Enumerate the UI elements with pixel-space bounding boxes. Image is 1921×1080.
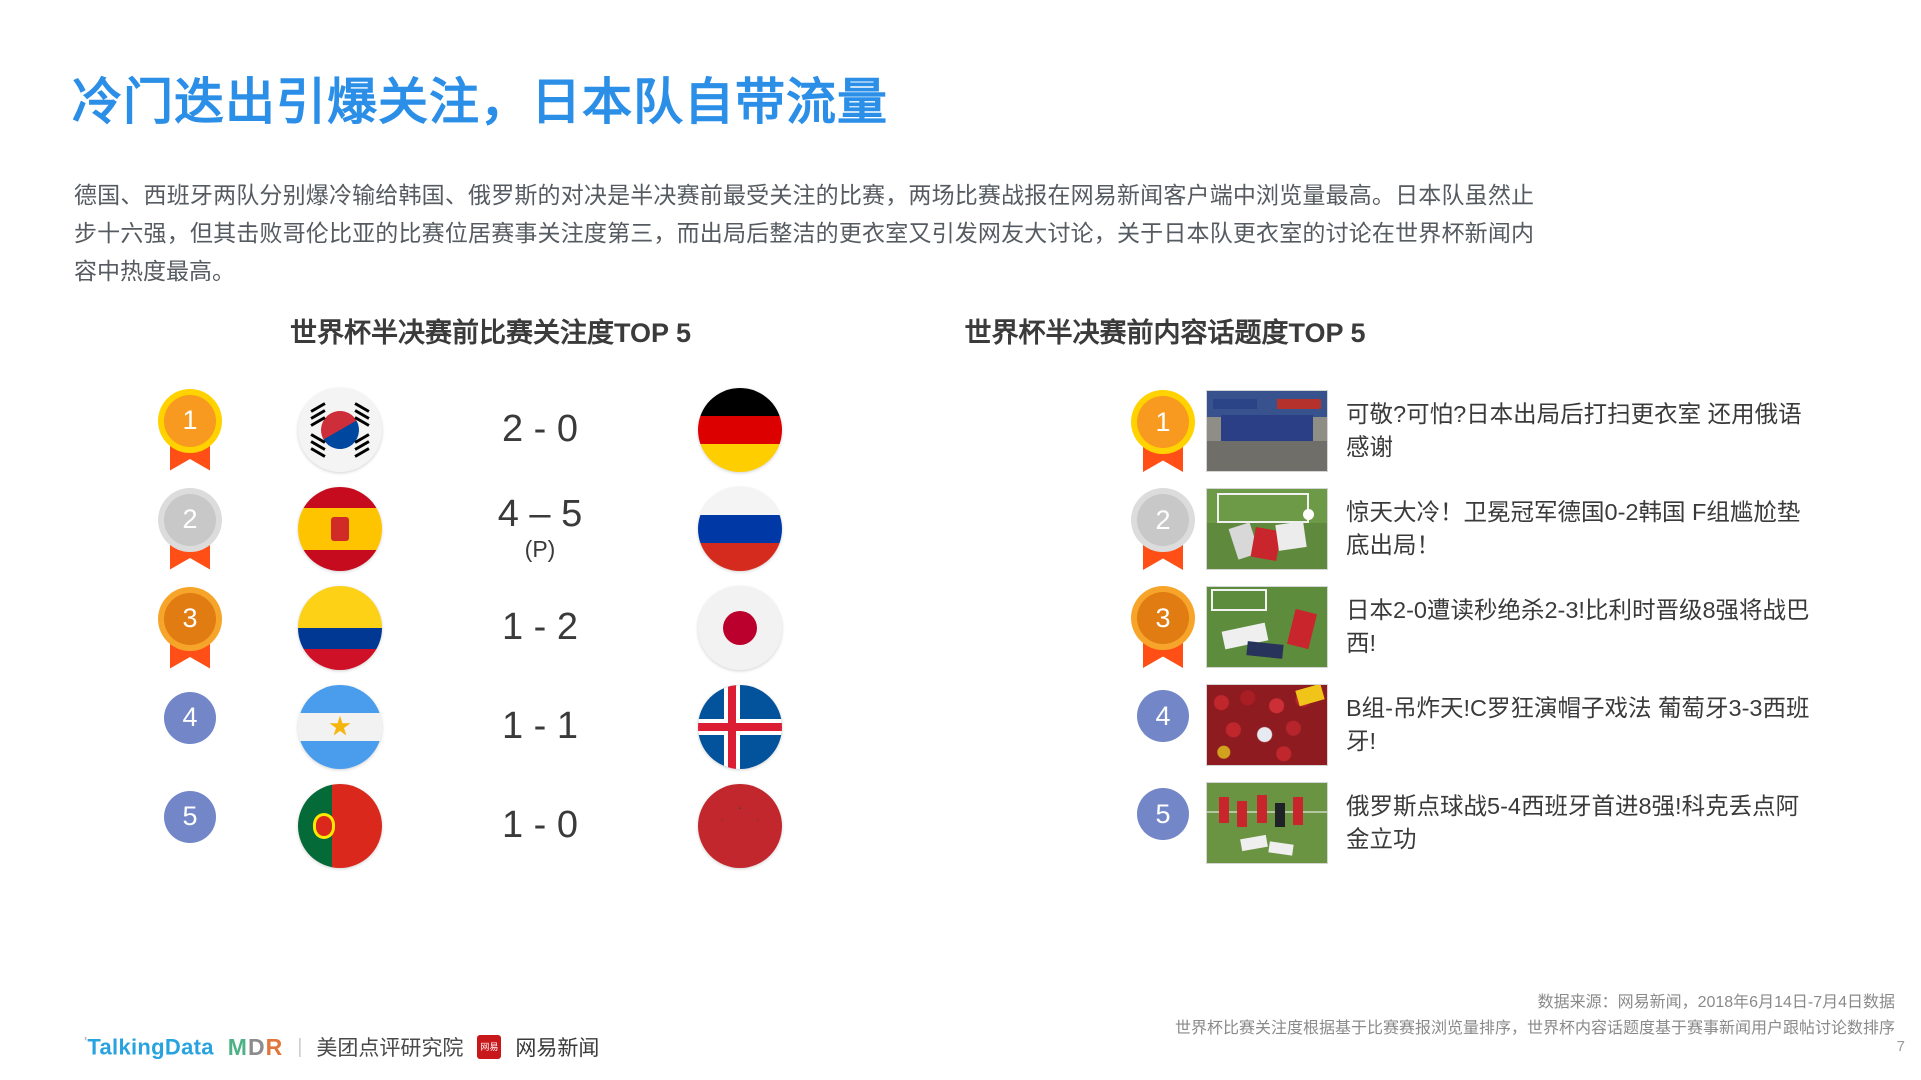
meituan-research-logo-text: 美团点评研究院 xyxy=(316,1032,463,1062)
flag-iceland-icon xyxy=(698,685,782,769)
thumbnail-celebration xyxy=(1206,782,1328,864)
rank-badge-cell: 2 xyxy=(130,494,250,564)
rank-number: 4 xyxy=(1137,690,1189,742)
list-item: 2 惊天大冷！卫冕冠军德国0-2韩国 F组尴尬垫底出局！ xyxy=(1120,480,1920,578)
match-row: 2 4 – 5 (P) xyxy=(130,479,870,578)
match-score: 1 - 2 xyxy=(430,608,650,648)
thumbnail-locker-room xyxy=(1206,390,1328,472)
flag-russia-icon xyxy=(698,487,782,571)
thumbnail-goal-mouth xyxy=(1206,488,1328,570)
logo-divider: | xyxy=(297,1036,302,1059)
rank-number: 3 xyxy=(164,593,216,645)
list-item: 5 俄罗斯点球战5-4西班牙首进8强!科克丢点阿金立功 xyxy=(1120,774,1920,872)
rank-badge-4: 4 xyxy=(161,692,219,762)
match-score: 2 - 0 xyxy=(430,410,650,450)
spain-crest xyxy=(331,517,349,541)
topic-title: 惊天大冷！卫冕冠军德国0-2韩国 F组尴尬垫底出局！ xyxy=(1346,496,1821,562)
right-column-heading: 世界杯半决赛前内容话题度TOP 5 xyxy=(964,311,1365,350)
rank-badge-cell: 1 xyxy=(130,395,250,465)
score-note: (P) xyxy=(430,537,650,561)
rank-badge-cell: 5 xyxy=(130,791,250,861)
rank-badge-cell: 5 xyxy=(1120,788,1206,858)
mdr-logo: MDR xyxy=(228,1034,283,1061)
japan-sun-disc xyxy=(723,611,757,645)
match-row: 4 1 - 1 xyxy=(130,677,870,776)
home-flag-cell xyxy=(250,685,430,769)
rank-badge-cell: 3 xyxy=(130,593,250,663)
rank-badge-cell: 2 xyxy=(1120,494,1206,564)
home-flag-cell xyxy=(250,388,430,472)
match-attention-list: 1 xyxy=(130,380,870,875)
away-flag-cell xyxy=(650,784,830,868)
portugal-shield xyxy=(313,813,335,839)
medal-bronze-icon: 3 xyxy=(161,593,219,663)
flag-portugal-icon xyxy=(298,784,382,868)
rank-badge-cell: 4 xyxy=(1120,690,1206,760)
away-flag-cell xyxy=(650,487,830,571)
rank-number: 5 xyxy=(164,791,216,843)
rank-badge-cell: 1 xyxy=(1120,396,1206,466)
home-flag-cell xyxy=(250,487,430,571)
rank-number: 3 xyxy=(1137,592,1189,644)
match-score: 4 – 5 (P) xyxy=(430,495,650,561)
score-value: 1 - 0 xyxy=(502,804,578,846)
match-row: 3 1 - 2 xyxy=(130,578,870,677)
talkingdata-logo-text: TalkingData xyxy=(87,1034,213,1059)
page-number: 7 xyxy=(1897,1038,1905,1055)
match-score: 1 - 0 xyxy=(430,806,650,846)
away-flag-cell xyxy=(650,388,830,472)
rank-number: 2 xyxy=(164,494,216,546)
match-score: 1 - 1 xyxy=(430,707,650,747)
list-item: 4 B组-吊炸天!C罗狂演帽子戏法 葡萄牙3-3西班牙! xyxy=(1120,676,1920,774)
mdr-logo-d: D xyxy=(248,1034,266,1060)
footer-logos: 'TalkingData MDR | 美团点评研究院 网易 网易新闻 xyxy=(84,1032,599,1062)
medal-silver-icon: 2 xyxy=(161,494,219,564)
away-flag-cell xyxy=(650,685,830,769)
rank-number: 4 xyxy=(164,692,216,744)
topic-title: 可敬?可怕?日本出局后打扫更衣室 还用俄语感谢 xyxy=(1346,398,1821,464)
rank-badge-5: 5 xyxy=(1134,788,1192,858)
slide: 冷门迭出引爆关注，日本队自带流量 德国、西班牙两队分别爆冷输给韩国、俄罗斯的对决… xyxy=(0,0,1921,1080)
rank-number: 2 xyxy=(1137,494,1189,546)
rank-number: 5 xyxy=(1137,788,1189,840)
match-row: 1 xyxy=(130,380,870,479)
score-value: 4 – 5 xyxy=(498,493,583,535)
mdr-logo-r: R xyxy=(266,1034,284,1060)
page-title: 冷门迭出引爆关注，日本队自带流量 xyxy=(72,62,888,134)
medal-gold-icon: 1 xyxy=(1134,396,1192,466)
topic-title: 日本2-0遭读秒绝杀2-3!比利时晋级8强将战巴西! xyxy=(1346,594,1821,660)
source-line-1: 数据来源：网易新闻，2018年6月14日-7月4日数据 xyxy=(1175,990,1895,1016)
summary-paragraph: 德国、西班牙两队分别爆冷输给韩国、俄罗斯的对决是半决赛前最受关注的比赛，两场比赛… xyxy=(74,176,1534,290)
rank-number: 1 xyxy=(1137,396,1189,448)
list-item: 1 可敬?可怕?日本出局后打扫更衣室 还用俄语感谢 xyxy=(1120,382,1920,480)
thumbnail-red-crowd xyxy=(1206,684,1328,766)
score-value: 2 - 0 xyxy=(502,408,578,450)
match-row: 5 1 - 0 xyxy=(130,776,870,875)
score-value: 1 - 1 xyxy=(502,705,578,747)
netease-mark-icon: 网易 xyxy=(477,1035,501,1059)
rank-badge-4: 4 xyxy=(1134,690,1192,760)
talkingdata-logo: 'TalkingData xyxy=(84,1034,214,1060)
list-item: 3 日本2-0遭读秒绝杀2-3!比利时晋级8强将战巴西! xyxy=(1120,578,1920,676)
thumbnail-japan-defeat xyxy=(1206,586,1328,668)
home-flag-cell xyxy=(250,784,430,868)
medal-gold-icon: 1 xyxy=(161,395,219,465)
score-value: 1 - 2 xyxy=(502,606,578,648)
topic-popularity-list: 1 可敬?可怕?日本出局后打扫更衣室 还用俄语感谢 2 xyxy=(1120,382,1920,872)
flag-germany-icon xyxy=(698,388,782,472)
flag-japan-icon xyxy=(698,586,782,670)
rank-number: 1 xyxy=(164,395,216,447)
flag-morocco-icon xyxy=(698,784,782,868)
netease-news-logo-text: 网易新闻 xyxy=(515,1032,599,1062)
flag-spain-icon xyxy=(298,487,382,571)
left-column-heading: 世界杯半决赛前比赛关注度TOP 5 xyxy=(290,311,691,350)
away-flag-cell xyxy=(650,586,830,670)
flag-argentina-icon xyxy=(298,685,382,769)
home-flag-cell xyxy=(250,586,430,670)
topic-title: 俄罗斯点球战5-4西班牙首进8强!科克丢点阿金立功 xyxy=(1346,790,1821,856)
medal-bronze-icon: 3 xyxy=(1134,592,1192,662)
source-note: 数据来源：网易新闻，2018年6月14日-7月4日数据 世界杯比赛关注度根据基于… xyxy=(1175,990,1895,1042)
flag-south-korea-icon xyxy=(298,388,382,472)
topic-title: B组-吊炸天!C罗狂演帽子戏法 葡萄牙3-3西班牙! xyxy=(1346,692,1821,758)
mdr-logo-m: M xyxy=(228,1034,248,1060)
medal-silver-icon: 2 xyxy=(1134,494,1192,564)
source-line-2: 世界杯比赛关注度根据基于比赛赛报浏览量排序，世界杯内容话题度基于赛事新闻用户跟帖… xyxy=(1175,1016,1895,1042)
rank-badge-cell: 4 xyxy=(130,692,250,762)
rank-badge-5: 5 xyxy=(161,791,219,861)
flag-colombia-icon xyxy=(298,586,382,670)
rank-badge-cell: 3 xyxy=(1120,592,1206,662)
morocco-star xyxy=(720,806,760,846)
